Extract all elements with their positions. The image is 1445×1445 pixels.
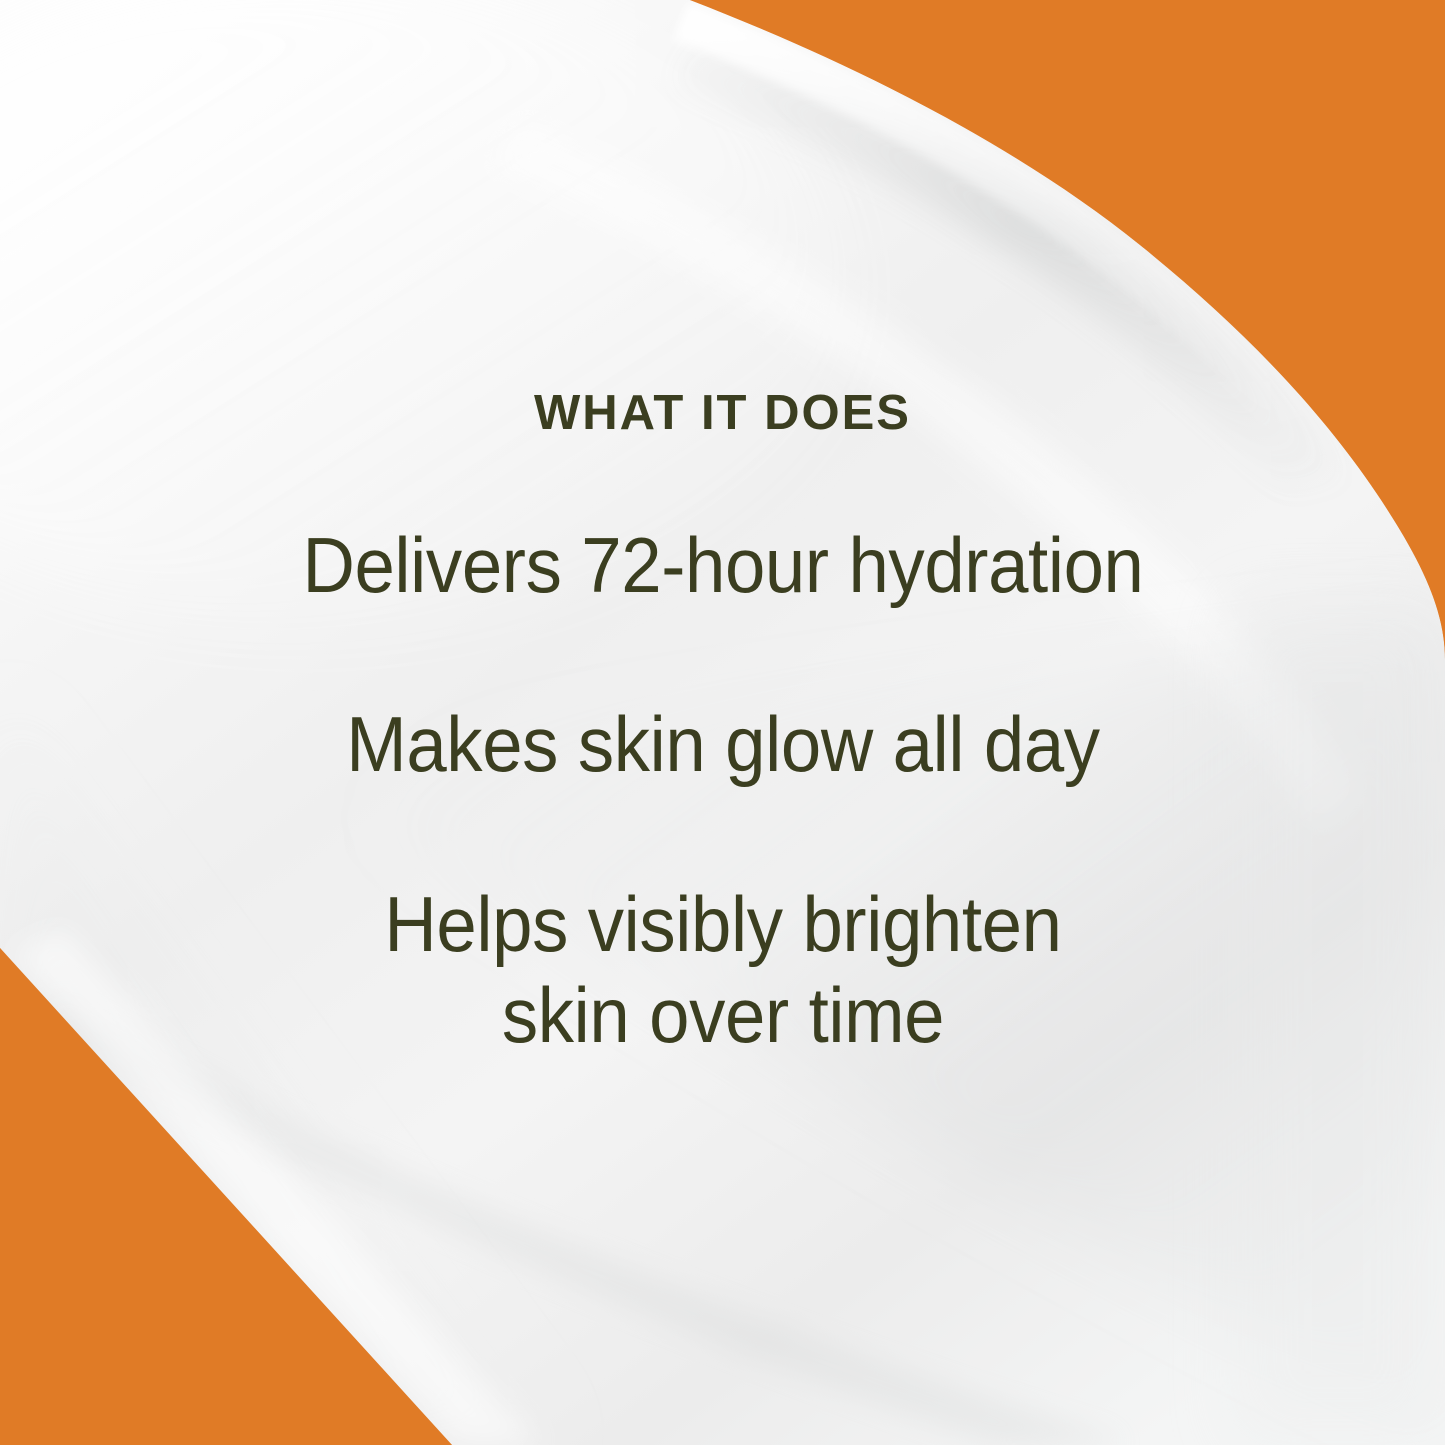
product-claim-card: WHAT IT DOES Delivers 72-hour hydration … (0, 0, 1445, 1445)
cream-swoosh-illustration (0, 0, 1445, 1445)
background-artwork (0, 0, 1445, 1445)
